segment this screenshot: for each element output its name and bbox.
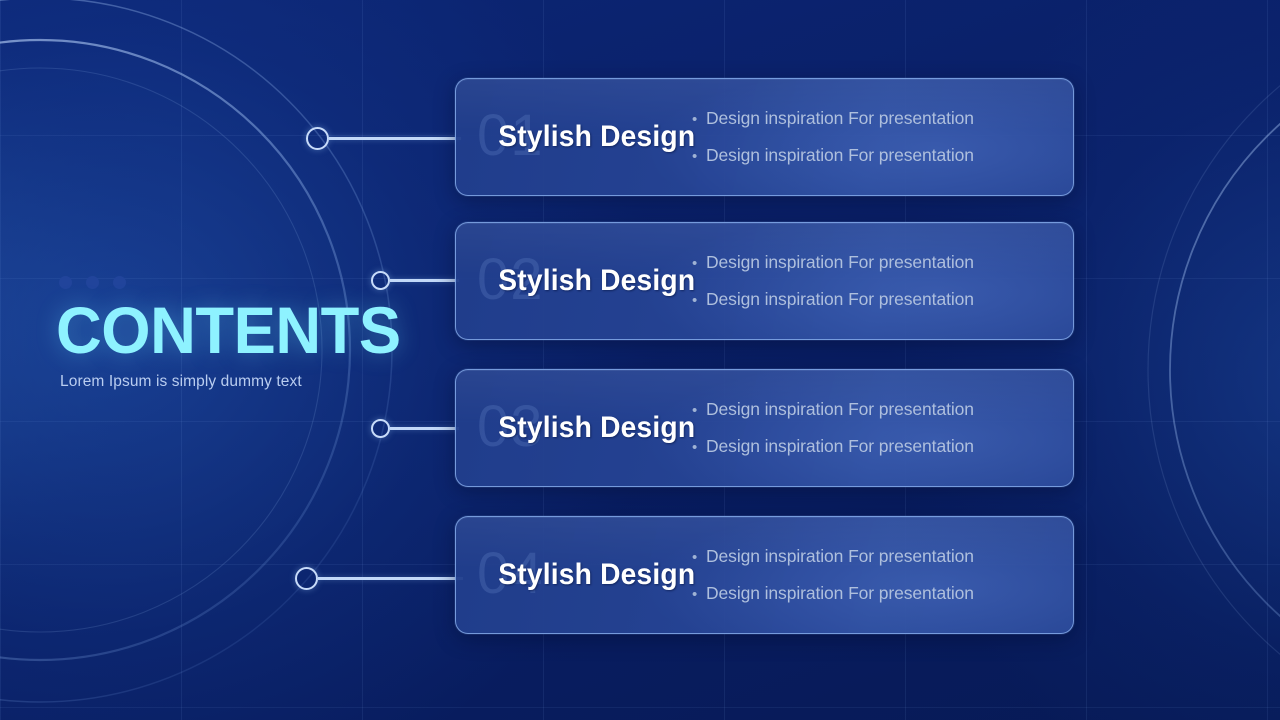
card-bullet-list: • Design inspiration For presentation • … <box>692 110 1073 164</box>
decorative-dots <box>56 276 386 289</box>
list-item-label: Design inspiration For presentation <box>706 110 974 128</box>
card-bullet-list: • Design inspiration For presentation • … <box>692 548 1073 602</box>
list-item-label: Design inspiration For presentation <box>706 147 974 165</box>
bullet-dot-icon: • <box>692 256 706 271</box>
dot-icon <box>86 276 99 289</box>
title-block: CONTENTS Lorem Ipsum is simply dummy tex… <box>56 276 386 391</box>
card-title: Stylish Design <box>456 264 678 298</box>
connector-node-icon <box>295 567 318 590</box>
list-item: • Design inspiration For presentation <box>692 438 1057 456</box>
page-title: CONTENTS <box>56 300 373 361</box>
content-card-3[interactable]: 03 Stylish Design • Design inspiration F… <box>455 369 1074 487</box>
bullet-dot-icon: • <box>692 149 706 164</box>
bullet-dot-icon: • <box>692 440 706 455</box>
list-item: • Design inspiration For presentation <box>692 291 1057 309</box>
connector-3 <box>371 419 459 438</box>
connector-line <box>390 427 459 429</box>
list-item-label: Design inspiration For presentation <box>706 438 974 456</box>
content-card-4[interactable]: 04 Stylish Design • Design inspiration F… <box>455 516 1074 634</box>
contents-slide: CONTENTS Lorem Ipsum is simply dummy tex… <box>0 0 1280 720</box>
connector-node-icon <box>306 127 329 150</box>
list-item: • Design inspiration For presentation <box>692 254 1057 272</box>
content-card-2[interactable]: 02 Stylish Design • Design inspiration F… <box>455 222 1074 340</box>
bullet-dot-icon: • <box>692 550 706 565</box>
list-item-label: Design inspiration For presentation <box>706 401 974 419</box>
list-item-label: Design inspiration For presentation <box>706 585 974 603</box>
list-item-label: Design inspiration For presentation <box>706 548 974 566</box>
list-item: • Design inspiration For presentation <box>692 401 1057 419</box>
list-item: • Design inspiration For presentation <box>692 585 1057 603</box>
connector-line <box>329 137 461 139</box>
connector-line <box>390 279 459 281</box>
dot-icon <box>59 276 72 289</box>
list-item-label: Design inspiration For presentation <box>706 291 974 309</box>
list-item: • Design inspiration For presentation <box>692 548 1057 566</box>
connector-node-icon <box>371 419 390 438</box>
bullet-dot-icon: • <box>692 587 706 602</box>
card-bullet-list: • Design inspiration For presentation • … <box>692 401 1073 455</box>
connector-2 <box>371 271 459 290</box>
card-title: Stylish Design <box>456 411 678 445</box>
content-card-1[interactable]: 01 Stylish Design • Design inspiration F… <box>455 78 1074 196</box>
connector-4 <box>295 567 463 590</box>
bullet-dot-icon: • <box>692 403 706 418</box>
connector-1 <box>306 127 461 150</box>
page-subtitle: Lorem Ipsum is simply dummy text <box>56 373 386 391</box>
list-item: • Design inspiration For presentation <box>692 110 1057 128</box>
list-item-label: Design inspiration For presentation <box>706 254 974 272</box>
connector-line <box>318 577 463 579</box>
list-item: • Design inspiration For presentation <box>692 147 1057 165</box>
card-title: Stylish Design <box>456 558 678 592</box>
bullet-dot-icon: • <box>692 112 706 127</box>
card-title: Stylish Design <box>456 120 678 154</box>
bullet-dot-icon: • <box>692 293 706 308</box>
card-bullet-list: • Design inspiration For presentation • … <box>692 254 1073 308</box>
connector-node-icon <box>371 271 390 290</box>
dot-icon <box>113 276 126 289</box>
